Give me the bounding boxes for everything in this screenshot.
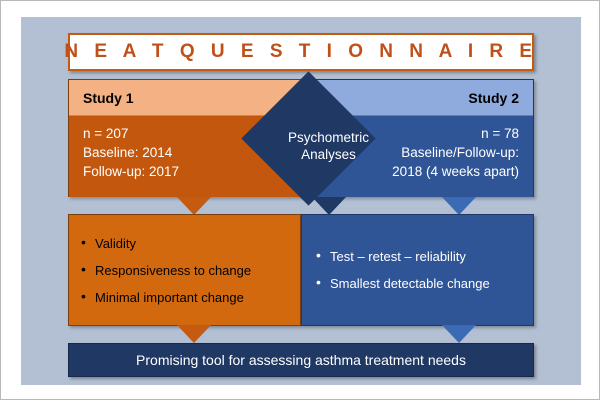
list-item: Responsiveness to change	[81, 263, 300, 278]
arrow-down-icon-center	[312, 197, 346, 215]
list-item: Validity	[81, 236, 300, 251]
results-right-box: Test – retest – reliability Smallest det…	[301, 214, 534, 326]
arrow-down-icon-study1	[177, 197, 211, 215]
diagram-title-box: N E A T Q U E S T I O N N A I R E	[68, 33, 534, 71]
results-left-box: Validity Responsiveness to change Minima…	[68, 214, 301, 326]
page-frame: N E A T Q U E S T I O N N A I R E Study …	[0, 0, 600, 400]
study-1-heading: Study 1	[83, 90, 134, 106]
list-item: Minimal important change	[81, 290, 300, 305]
psychometric-analyses-label: Psychometric Analyses	[261, 129, 396, 163]
diamond-line-1: Psychometric	[261, 129, 396, 146]
arrow-down-icon-results-left	[177, 325, 211, 343]
list-item: Smallest detectable change	[316, 276, 533, 291]
conclusion-banner: Promising tool for assessing asthma trea…	[68, 343, 534, 377]
page-title: N E A T Q U E S T I O N N A I R E	[64, 41, 537, 63]
diamond-line-2: Analyses	[261, 146, 396, 163]
study-1-header: Study 1	[69, 80, 300, 116]
arrow-down-icon-study2	[442, 197, 476, 215]
conclusion-text: Promising tool for assessing asthma trea…	[136, 352, 466, 368]
list-item: Test – retest – reliability	[316, 249, 533, 264]
diagram-canvas: N E A T Q U E S T I O N N A I R E Study …	[21, 17, 581, 385]
study-2-heading: Study 2	[468, 90, 519, 106]
arrow-down-icon-results-right	[442, 325, 476, 343]
